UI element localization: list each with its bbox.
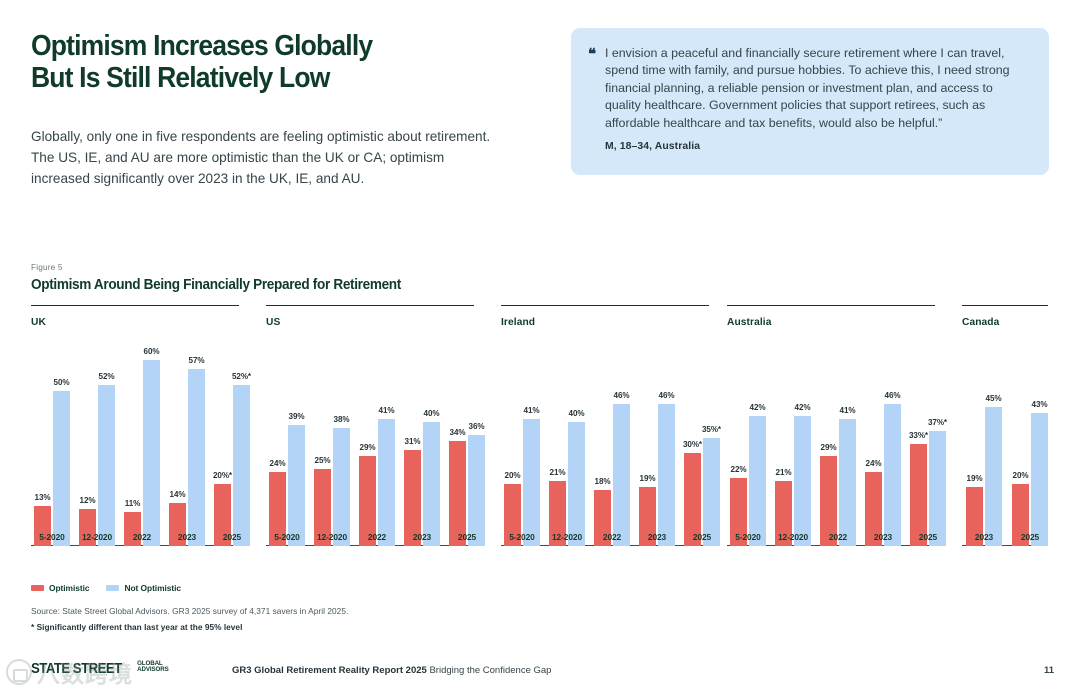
bar-group: 20%*52%*2025 [214,354,250,546]
bar-value-label: 24% [866,459,882,468]
bar-not-optimistic: 50% [53,391,70,546]
chart-legend: OptimisticNot Optimistic [31,583,181,593]
x-axis-tick-label: 2023 [413,532,431,542]
bar-optimistic: 34% [449,441,466,546]
bar-value-label: 21% [776,468,792,477]
quote-attribution: M, 18–34, Australia [605,141,700,152]
bar-value-label: 33%* [909,431,928,440]
x-axis-tick-label: 12-2020 [552,532,582,542]
page-title: Optimism Increases Globally But Is Still… [31,30,477,94]
panel-country-label: Canada [962,317,999,328]
bar-value-label: 29% [821,443,837,452]
x-axis-tick-label: 2025 [693,532,711,542]
x-axis-tick-label: 12-2020 [778,532,808,542]
bar-value-label: 30%* [683,440,702,449]
significance-footnote: * Significantly different than last year… [31,622,242,632]
panel-country-label: Ireland [501,317,535,328]
bar-value-label: 38% [334,415,350,424]
bar-value-label: 60% [144,347,160,356]
legend-item-not-optimistic: Not Optimistic [106,583,181,593]
bar-group: 30%*35%*2025 [684,354,720,546]
plot-area: 22%42%5-202021%42%12-202029%41%202224%46… [727,341,935,570]
bar-group: 29%41%2022 [820,354,856,546]
bar-value-label: 12% [80,496,96,505]
bar-group: 24%39%5-2020 [269,354,305,546]
x-axis-tick-label: 2025 [1021,532,1039,542]
x-axis-tick-label: 2025 [919,532,937,542]
bar-value-label: 36% [469,422,485,431]
bar-not-optimistic: 57% [188,369,205,546]
x-axis-tick-label: 2022 [368,532,386,542]
brand-tagline: GLOBAL ADVISORS [137,660,169,674]
bar-group: 33%*37%*2025 [910,354,946,546]
bar-group: 25%38%12-2020 [314,354,350,546]
bar-not-optimistic: 60% [143,360,160,546]
bar-not-optimistic: 46% [658,404,675,546]
bar-value-label: 41% [379,406,395,415]
legend-swatch [106,585,119,591]
bar-value-label: 41% [524,406,540,415]
bar-not-optimistic: 43% [1031,413,1048,546]
quote-mark-icon: ❝ [588,47,595,62]
bar-not-optimistic: 38% [333,428,350,546]
quote-text: I envision a peaceful and financially se… [605,45,1027,132]
bar-group: 29%41%2022 [359,354,395,546]
x-axis-tick-label: 5-2020 [509,532,534,542]
bar-not-optimistic: 52% [98,385,115,546]
plot-area: 20%41%5-202021%40%12-202018%46%202219%46… [501,341,709,570]
bar-value-label: 13% [35,493,51,502]
bar-not-optimistic: 41% [839,419,856,546]
bar-value-label: 19% [640,474,656,483]
bar-value-label: 34% [450,428,466,437]
bar-value-label: 40% [424,409,440,418]
bar-not-optimistic: 42% [794,416,811,546]
bar-group: 19%46%2023 [639,354,675,546]
bar-group: 13%50%5-2020 [34,354,70,546]
bar-group: 21%42%12-2020 [775,354,811,546]
panel-country-label: US [266,317,280,328]
source-note: Source: State Street Global Advisors. GR… [31,606,348,616]
bar-not-optimistic: 37%* [929,431,946,546]
bar-not-optimistic: 41% [523,419,540,546]
bar-not-optimistic: 40% [568,422,585,546]
bar-value-label: 57% [189,356,205,365]
bar-group: 20%41%5-2020 [504,354,540,546]
intro-paragraph: Globally, only one in five respondents a… [31,126,501,189]
bar-not-optimistic: 41% [378,419,395,546]
bar-not-optimistic: 45% [985,407,1002,546]
x-axis-tick-label: 12-2020 [82,532,112,542]
bar-value-label: 22% [731,465,747,474]
bar-not-optimistic: 36% [468,435,485,546]
panel-divider [501,305,709,306]
bar-value-label: 52%* [232,372,251,381]
bar-value-label: 39% [289,412,305,421]
bar-value-label: 50% [54,378,70,387]
brand-tagline-line-2: ADVISORS [137,667,169,673]
bar-value-label: 42% [795,403,811,412]
bar-value-label: 20% [505,471,521,480]
bar-value-label: 46% [885,391,901,400]
x-axis-tick-label: 2023 [975,532,993,542]
x-axis-tick-label: 2022 [603,532,621,542]
bar-value-label: 25% [315,456,331,465]
footer-report-label: GR3 Global Retirement Reality Report 202… [232,665,551,676]
footer-report-title: GR3 Global Retirement Reality Report 202… [232,665,427,676]
legend-swatch [31,585,44,591]
panel-divider [31,305,239,306]
bar-value-label: 35%* [702,425,721,434]
bar-value-label: 46% [659,391,675,400]
bar-group: 12%52%12-2020 [79,354,115,546]
footer-report-subtitle: Bridging the Confidence Gap [429,665,551,676]
quote-card: ❝ I envision a peaceful and financially … [571,28,1049,175]
page-number: 11 [1044,665,1054,676]
figure-title: Optimism Around Being Financially Prepar… [31,277,401,293]
bar-group: 21%40%12-2020 [549,354,585,546]
panel-divider [727,305,935,306]
x-axis-tick-label: 5-2020 [39,532,64,542]
bar-value-label: 40% [569,409,585,418]
plot-area: 13%50%5-202012%52%12-202011%60%202214%57… [31,341,239,570]
brand-name: STATE STREET [31,660,122,677]
page-title-line-1: Optimism Increases Globally [31,30,372,62]
panel-divider [266,305,474,306]
bar-value-label: 24% [270,459,286,468]
plot-area: 19%45%202320%43%2025 [962,341,1048,570]
bar-group: 20%43%2025 [1012,354,1048,546]
x-axis-tick-label: 2022 [829,532,847,542]
bar-group: 14%57%2023 [169,354,205,546]
watermark-logo-icon [6,659,32,685]
bar-not-optimistic: 46% [613,404,630,546]
bar-not-optimistic: 42% [749,416,766,546]
figure-number: Figure 5 [31,262,63,272]
bar-group: 11%60%2022 [124,354,160,546]
bar-group: 24%46%2023 [865,354,901,546]
bar-value-label: 11% [125,499,140,508]
x-axis-tick-label: 5-2020 [735,532,760,542]
x-axis-tick-label: 2023 [648,532,666,542]
bar-value-label: 45% [986,394,1002,403]
bar-not-optimistic: 46% [884,404,901,546]
bar-group: 34%36%2025 [449,354,485,546]
x-axis-tick-label: 2022 [133,532,151,542]
plot-area: 24%39%5-202025%38%12-202029%41%202231%40… [266,341,474,570]
x-axis-tick-label: 2023 [874,532,892,542]
bar-value-label: 18% [595,477,611,486]
bar-value-label: 20% [1013,471,1029,480]
legend-label: Optimistic [49,583,89,593]
bar-value-label: 14% [170,490,186,499]
x-axis-tick-label: 5-2020 [274,532,299,542]
bar-not-optimistic: 40% [423,422,440,546]
x-axis-tick-label: 2023 [178,532,196,542]
bar-value-label: 29% [360,443,376,452]
bar-value-label: 43% [1032,400,1048,409]
bar-not-optimistic: 52%* [233,385,250,546]
bar-group: 19%45%2023 [966,354,1002,546]
bar-not-optimistic: 39% [288,425,305,546]
bar-group: 31%40%2023 [404,354,440,546]
x-axis-tick-label: 12-2020 [317,532,347,542]
bar-group: 18%46%2022 [594,354,630,546]
panel-divider [962,305,1048,306]
bar-value-label: 37%* [928,418,947,427]
x-axis-tick-label: 2025 [223,532,241,542]
panel-country-label: Australia [727,317,772,328]
bar-value-label: 19% [967,474,983,483]
brand-logo: STATE STREET GLOBAL ADVISORS [31,660,169,677]
legend-item-optimistic: Optimistic [31,583,89,593]
bar-value-label: 31% [405,437,421,446]
x-axis-tick-label: 2025 [458,532,476,542]
page-title-line-2: But Is Still Relatively Low [31,62,477,94]
bar-not-optimistic: 35%* [703,438,720,546]
bar-optimistic: 33%* [910,444,927,546]
bar-value-label: 41% [840,406,856,415]
bar-value-label: 42% [750,403,766,412]
legend-label: Not Optimistic [124,583,181,593]
bar-value-label: 21% [550,468,566,477]
report-page: Optimism Increases Globally But Is Still… [0,0,1080,699]
bar-value-label: 52% [99,372,115,381]
bar-value-label: 46% [614,391,630,400]
panel-country-label: UK [31,317,46,328]
bar-value-label: 20%* [213,471,232,480]
bar-group: 22%42%5-2020 [730,354,766,546]
